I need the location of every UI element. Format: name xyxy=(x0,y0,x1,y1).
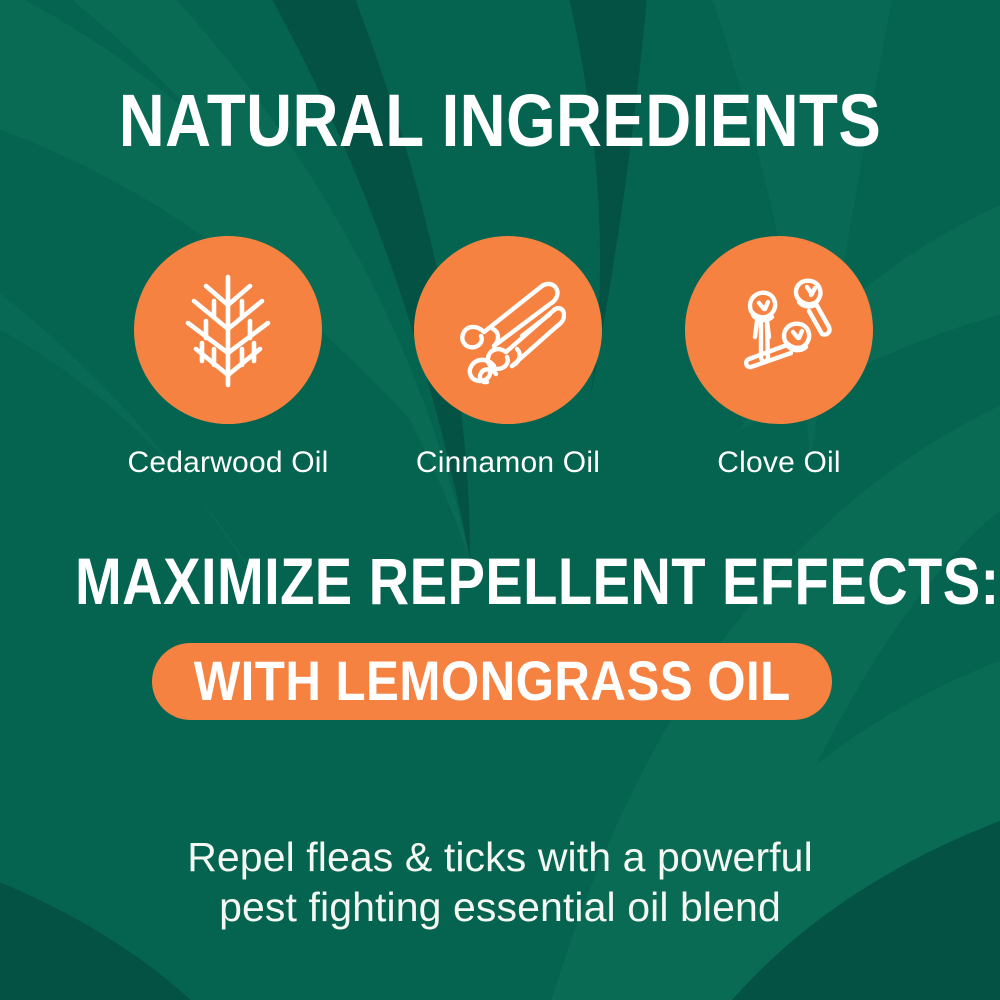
ingredient-cedarwood: Cedarwood Oil xyxy=(108,236,348,480)
cinnamon-sticks-icon xyxy=(450,274,566,386)
badge-label: WITH LEMONGRASS OIL xyxy=(194,653,791,709)
ingredient-icon-badge xyxy=(134,236,322,424)
ingredient-label: Cinnamon Oil xyxy=(388,446,628,480)
ingredient-clove: Clove Oil xyxy=(659,236,899,480)
lemongrass-oil-badge: WITH LEMONGRASS OIL xyxy=(152,643,832,720)
body-copy: Repel fleas & ticks with a powerful pest… xyxy=(0,832,1000,932)
page-title: NATURAL INGREDIENTS xyxy=(70,84,930,158)
headline: MAXIMIZE REPELLENT EFFECTS: xyxy=(75,548,925,614)
body-line-2: pest fighting essential oil blend xyxy=(0,882,1000,932)
product-infographic: NATURAL INGREDIENTS xyxy=(0,0,1000,1000)
cedarwood-tree-icon xyxy=(172,271,284,389)
ingredient-label: Clove Oil xyxy=(659,446,899,480)
ingredient-icon-badge xyxy=(685,236,873,424)
clove-buds-icon xyxy=(723,275,835,385)
ingredient-cinnamon: Cinnamon Oil xyxy=(388,236,628,480)
ingredient-icon-badge xyxy=(414,236,602,424)
ingredients-row: Cedarwood Oil xyxy=(0,236,1000,486)
ingredient-label: Cedarwood Oil xyxy=(108,446,348,480)
body-line-1: Repel fleas & ticks with a powerful xyxy=(0,832,1000,882)
